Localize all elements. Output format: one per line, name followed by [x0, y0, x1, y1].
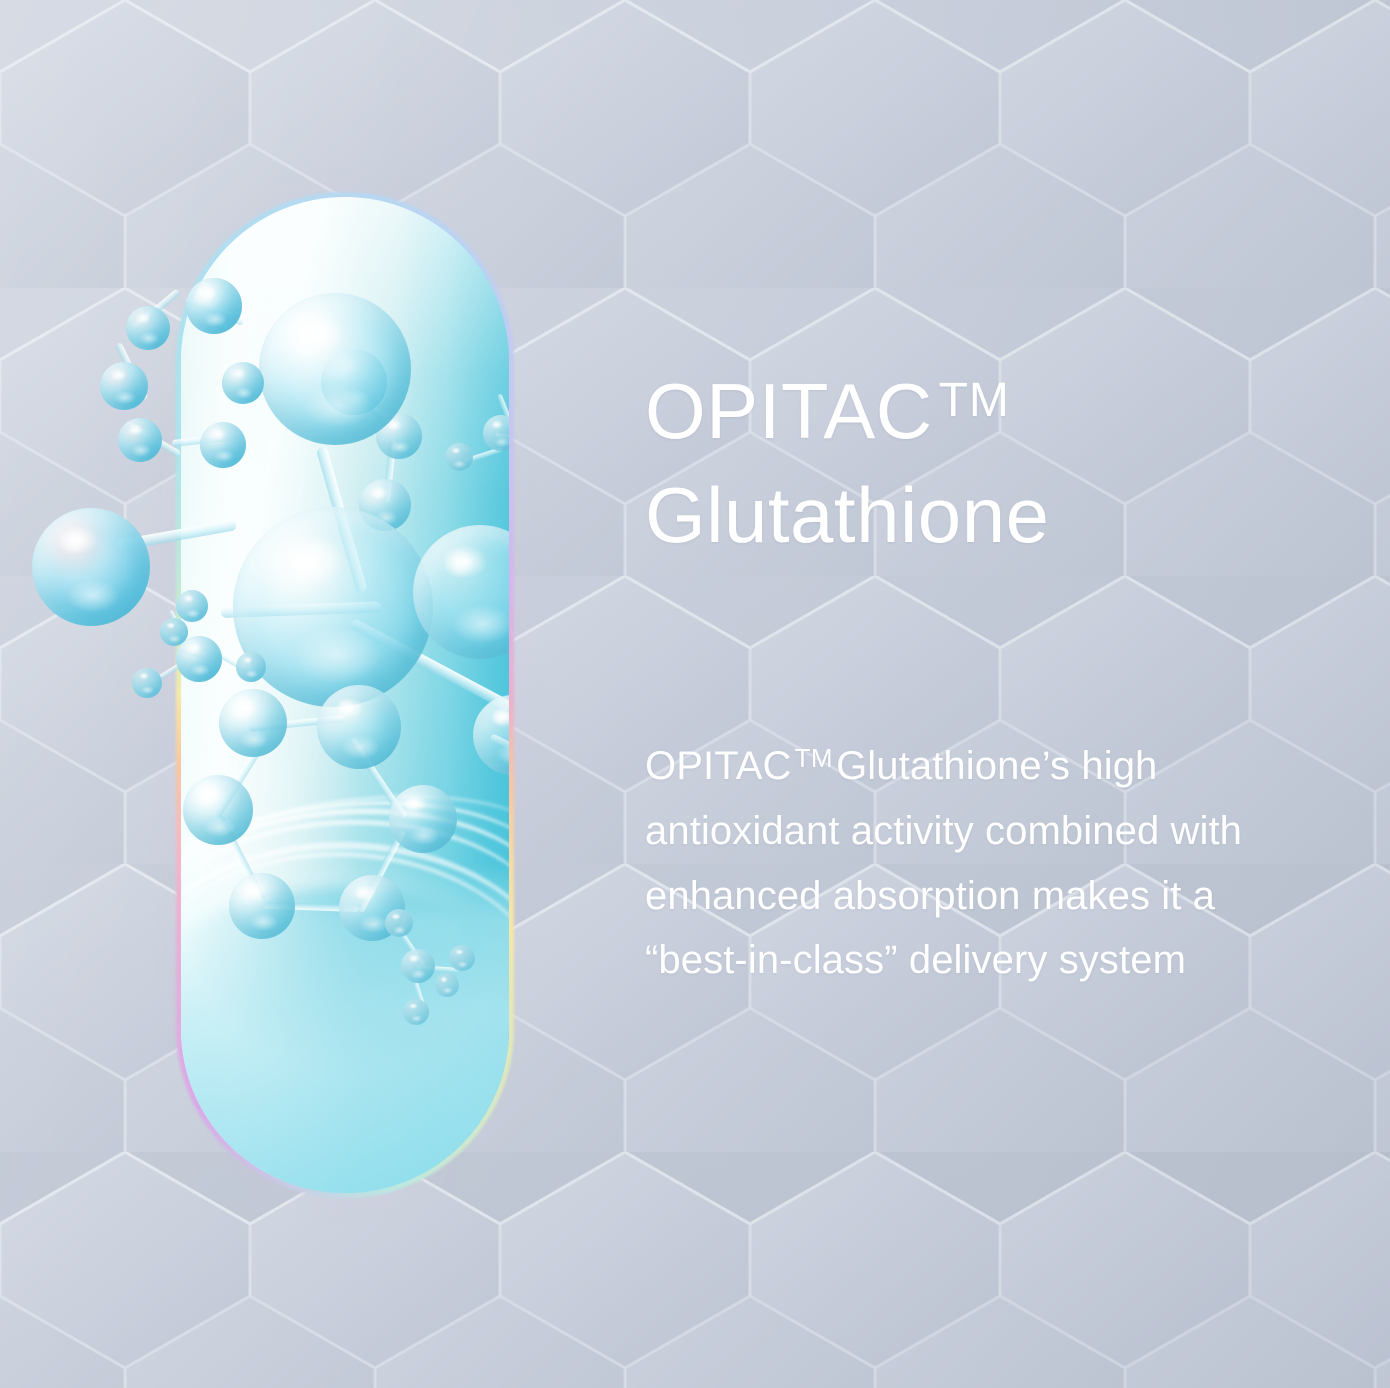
- capsule-top-sheen: [181, 197, 509, 497]
- headline-line-2: Glutathione: [645, 471, 1049, 559]
- capsule-body: [181, 197, 509, 1193]
- water-ripple-area: [181, 863, 509, 1193]
- water-wave: [181, 841, 509, 1168]
- trademark-symbol: TM: [792, 743, 837, 773]
- promo-banner: OPITACTM Glutathione OPITACTMGlutathione…: [0, 0, 1390, 1388]
- headline-block: OPITACTM Glutathione: [645, 360, 1335, 567]
- capsule-illustration: [176, 192, 514, 1198]
- headline-line-1: OPITAC: [645, 367, 933, 455]
- body-description: OPITACTMGlutathione’s high antioxidant a…: [645, 734, 1325, 993]
- page-title: OPITACTM Glutathione: [645, 360, 1335, 567]
- body-brand: OPITAC: [645, 744, 792, 788]
- trademark-symbol: TM: [939, 374, 1010, 427]
